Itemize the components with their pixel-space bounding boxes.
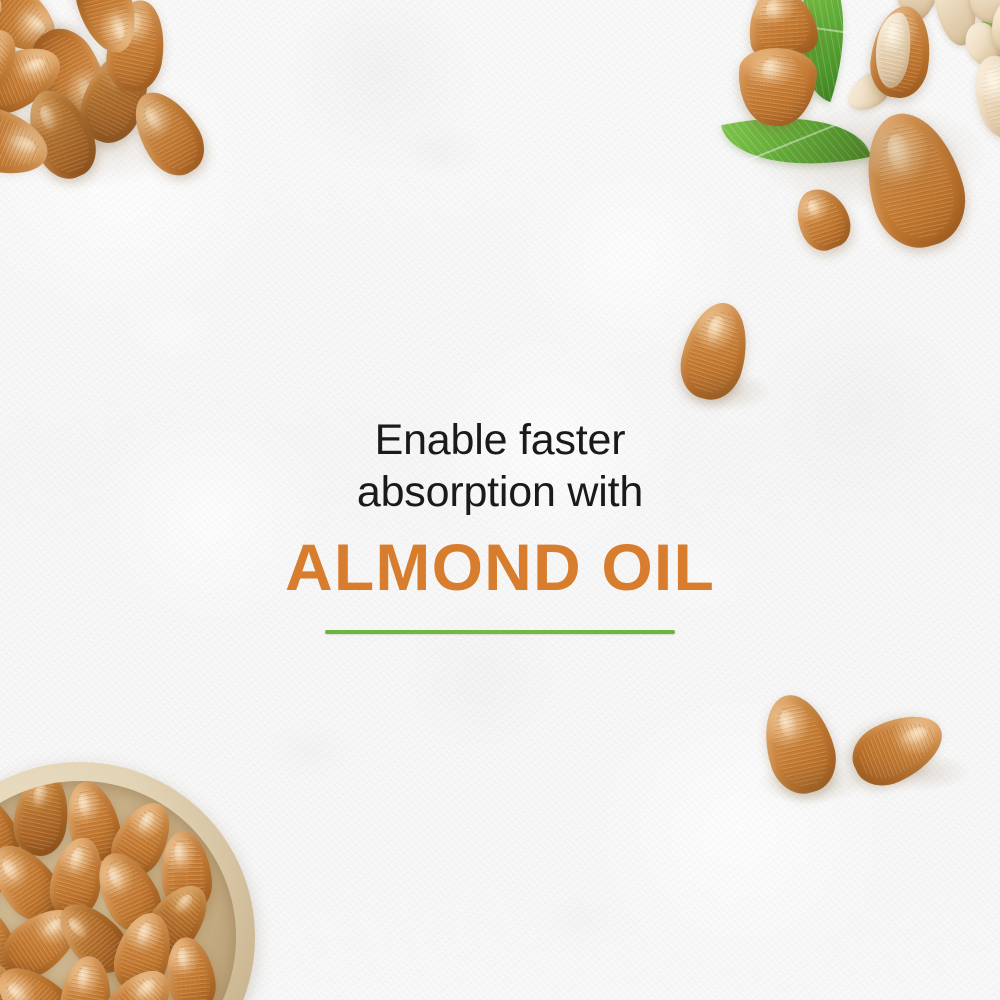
green-divider-rule	[325, 630, 675, 634]
center-right-single-almond	[676, 298, 776, 418]
cluster-shadow	[750, 100, 990, 210]
top-left-almond-cluster	[0, 0, 260, 210]
product-name-title: ALMOND OIL	[0, 530, 1000, 604]
almond-shadow	[682, 370, 772, 412]
bowl-interior	[0, 781, 236, 1000]
headline-line-1: Enable faster	[0, 414, 1000, 466]
headline-line-2: absorption with	[0, 466, 1000, 518]
headline-block: Enable faster absorption with ALMOND OIL	[0, 414, 1000, 634]
almond-shadow	[756, 762, 866, 804]
top-right-almond-cluster	[720, 0, 1000, 230]
almond-shadow	[862, 752, 972, 792]
bottom-right-almond-pair	[750, 680, 970, 810]
almond-oil-banner: Enable faster absorption with ALMOND OIL	[0, 0, 1000, 1000]
almond-bowl	[0, 762, 255, 1000]
bowl-almonds-fill	[0, 781, 236, 1000]
divider-wrapper	[0, 630, 1000, 634]
